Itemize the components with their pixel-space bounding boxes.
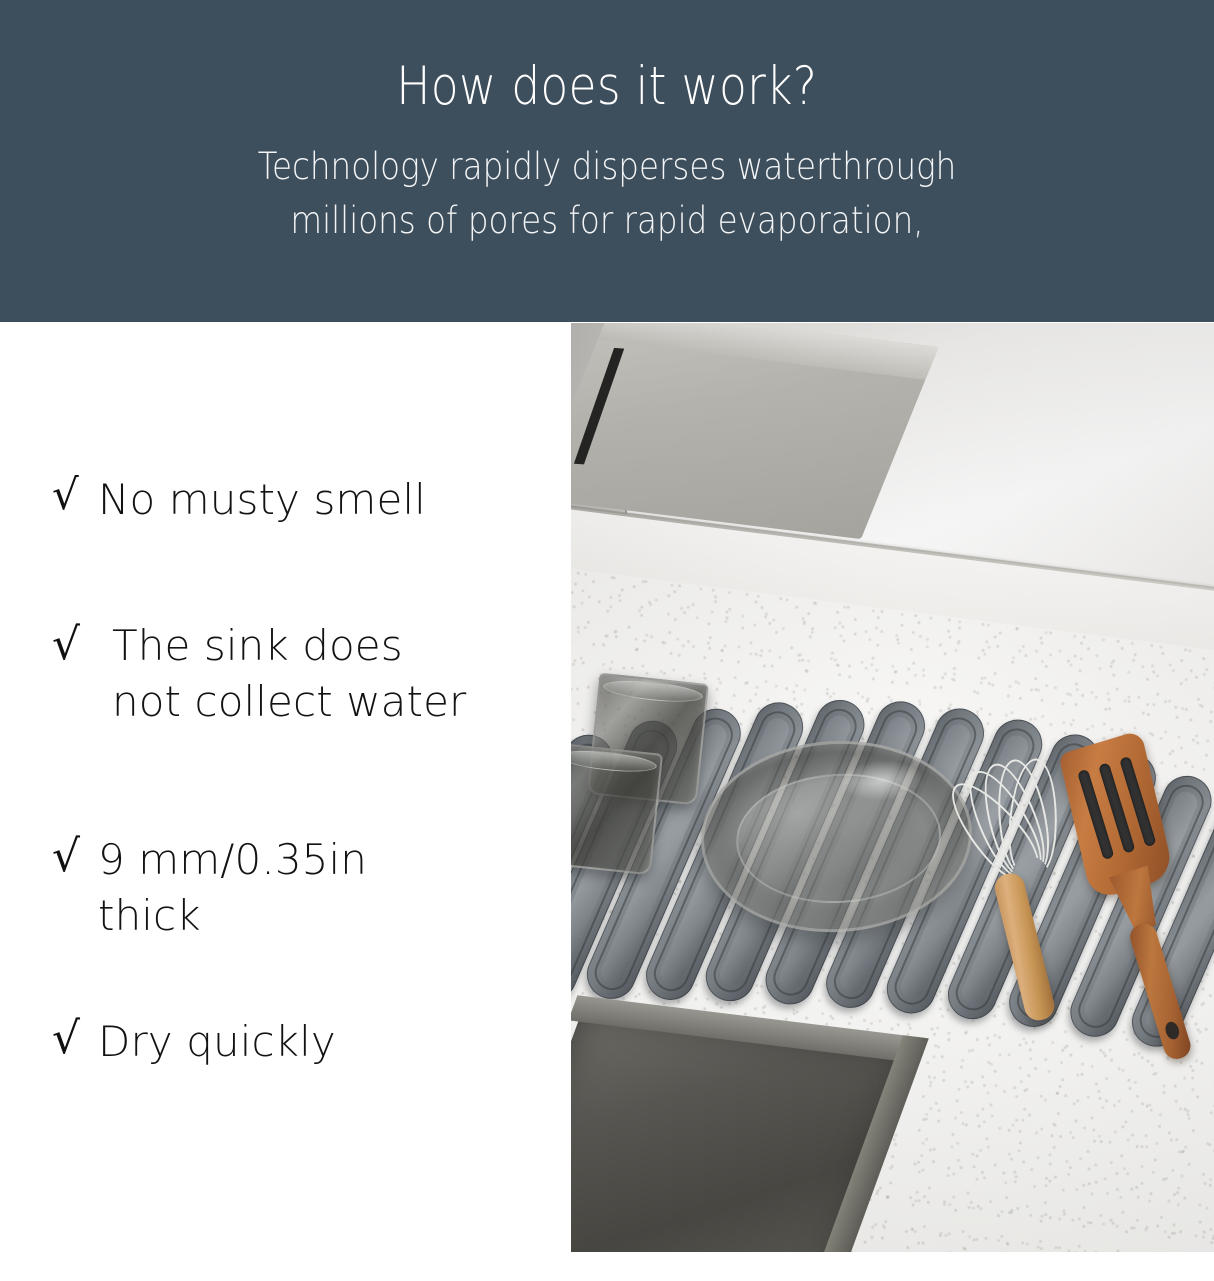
photo-scene <box>571 323 1214 1252</box>
page-subtitle: Technology rapidly disperses waterthroug… <box>258 140 957 248</box>
feature-item: √ The sink does not collect water <box>52 618 466 730</box>
whisk-handle <box>992 870 1057 1023</box>
feature-item: √ Dry quickly <box>52 1014 336 1070</box>
checkmark-icon: √ <box>52 834 98 880</box>
feature-item: √ No musty smell <box>52 472 426 528</box>
product-photo <box>571 323 1214 1252</box>
feature-list: √ No musty smell √ The sink does not col… <box>0 322 571 1281</box>
glass-tumbler <box>571 743 663 876</box>
checkmark-icon: √ <box>52 472 98 518</box>
checkmark-icon: √ <box>52 1016 98 1062</box>
feature-item: √ 9 mm/0.35in thick <box>52 832 367 944</box>
subtitle-line-2: millions of pores for rapid evaporation, <box>258 194 957 248</box>
subtitle-line-1: Technology rapidly disperses waterthroug… <box>258 140 957 194</box>
tumbler-rim <box>602 677 703 705</box>
spatula-handle <box>1127 920 1194 1062</box>
feature-label: Dry quickly <box>98 1014 336 1070</box>
page-title: How does it work? <box>397 56 818 118</box>
feature-label: The sink does not collect water <box>98 618 466 730</box>
checkmark-icon: √ <box>52 622 98 668</box>
stainless-sink-basin <box>571 1008 911 1252</box>
feature-label: 9 mm/0.35in thick <box>98 832 367 944</box>
feature-label: No musty smell <box>98 472 426 528</box>
tumbler-rim <box>571 747 658 775</box>
header-banner: How does it work? Technology rapidly dis… <box>0 0 1214 322</box>
